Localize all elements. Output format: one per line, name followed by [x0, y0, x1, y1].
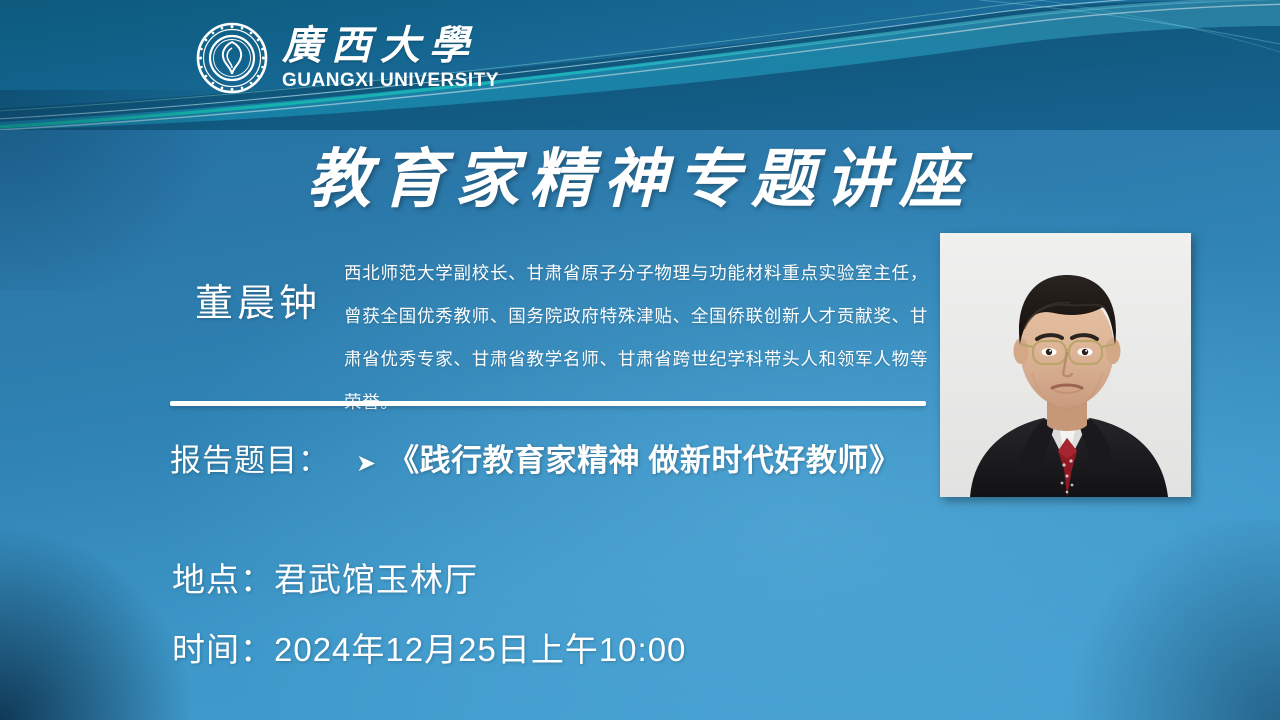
topic-line: 报告题目： ➤ 《践行教育家精神 做新时代好教师》 — [170, 435, 950, 480]
speaker-photo — [940, 233, 1191, 497]
speaker-bio: 西北师范大学副校长、甘肃省原子分子物理与功能材料重点实验室主任，曾获全国优秀教师… — [344, 252, 928, 424]
speaker-bio-text: 西北师范大学副校长、甘肃省原子分子物理与功能材料重点实验室主任，曾获全国优秀教师… — [344, 252, 928, 424]
portrait-illustration-icon — [940, 233, 1191, 497]
wave-graphic-icon — [0, 0, 1280, 130]
poster-canvas: 廣西大學 GUANGXI UNIVERSITY 教育家精神专题讲座 董晨钟 西北… — [0, 0, 1280, 720]
header-wave-band — [0, 0, 1280, 130]
topic-title: 《践行教育家精神 做新时代好教师》 — [388, 435, 900, 480]
university-name-en: GUANGXI UNIVERSITY — [282, 71, 499, 90]
poster-title: 教育家精神专题讲座 — [0, 128, 1280, 220]
time-line: 时间：2024年12月25日上午10:00 — [172, 623, 686, 671]
vignette-bottom-right — [1050, 520, 1280, 720]
divider-rule — [170, 401, 926, 406]
university-logo-text: 廣西大學 GUANGXI UNIVERSITY — [282, 26, 499, 90]
topic-label: 报告题目： — [170, 435, 330, 480]
arrow-bullet-icon: ➤ — [356, 449, 376, 478]
university-logo: 廣西大學 GUANGXI UNIVERSITY — [196, 22, 499, 94]
venue-line: 地点：君武馆玉林厅 — [172, 553, 478, 601]
vignette-bottom-left — [0, 530, 190, 720]
speaker-name: 董晨钟 — [168, 272, 348, 327]
university-name-cn: 廣西大學 — [282, 26, 478, 66]
university-seal-icon — [196, 22, 268, 94]
